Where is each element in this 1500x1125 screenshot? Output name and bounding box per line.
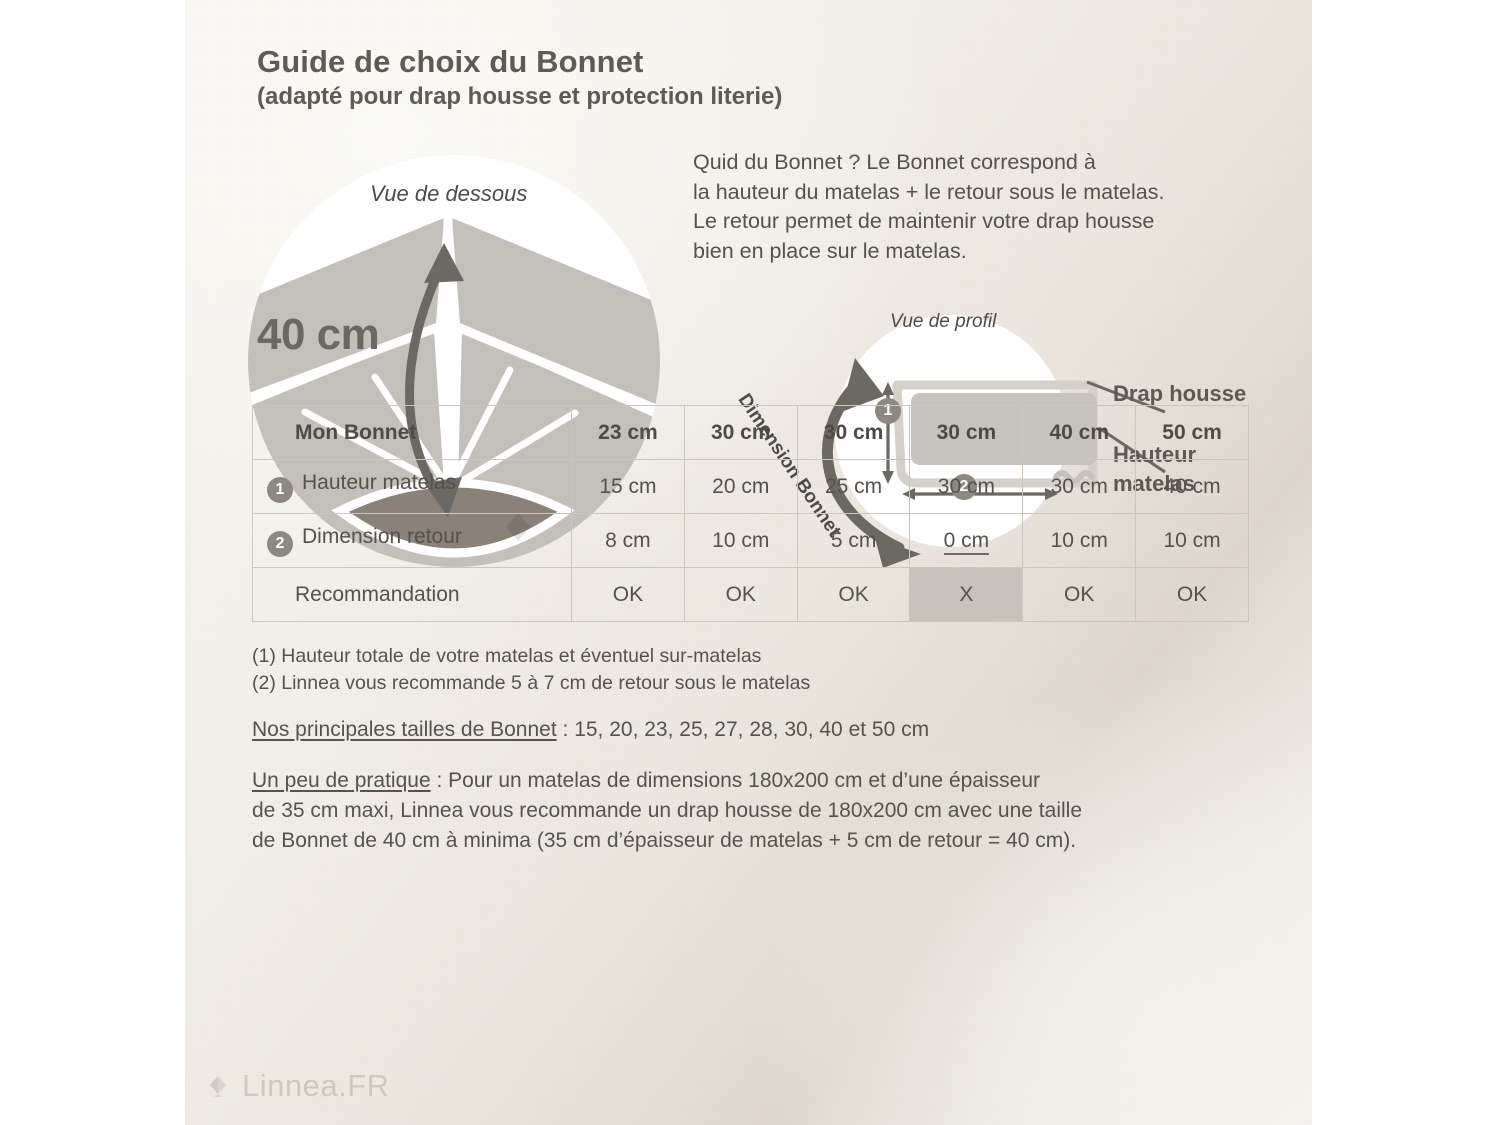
hauteur-col-2: 25 cm — [797, 460, 910, 514]
title-block: Guide de choix du Bonnet (adapté pour dr… — [257, 44, 1017, 112]
reco-col-0: OK — [572, 568, 685, 622]
note-2: (2) Linnea vous recommande 5 à 7 cm de r… — [252, 670, 1252, 697]
intro-line-2: la hauteur du matelas + le retour sous l… — [693, 178, 1283, 208]
practice-line-2: de 35 cm maxi, Linnea vous recommande un… — [252, 796, 1252, 826]
intro-line-1: Quid du Bonnet ? Le Bonnet correspond à — [693, 148, 1283, 178]
intro-paragraph: Quid du Bonnet ? Le Bonnet correspond à … — [693, 148, 1283, 266]
reco-col-3: X — [910, 568, 1023, 622]
note-1: (1) Hauteur totale de votre matelas et é… — [252, 643, 1252, 670]
retour-col-5: 10 cm — [1136, 514, 1249, 568]
practice-line-3: de Bonnet de 40 cm à minima (35 cm d’épa… — [252, 826, 1252, 856]
practice-line-1-text: : Pour un matelas de dimensions 180x200 … — [431, 769, 1040, 792]
hauteur-col-3: 30 cm — [910, 460, 1023, 514]
intro-line-3: Le retour permet de maintenir votre drap… — [693, 207, 1283, 237]
table-label-retour: 2Dimension retour — [253, 514, 572, 568]
table-label-reco: Recommandation — [253, 568, 572, 622]
reco-col-4: OK — [1023, 568, 1136, 622]
table-label-hauteur-text: Hauteur matelas — [302, 471, 456, 494]
practice-label: Un peu de pratique — [252, 769, 431, 792]
logo-text: Linnea.FR — [242, 1068, 390, 1104]
table-header-col-1: 30 cm — [684, 406, 797, 460]
reco-col-5: OK — [1136, 568, 1249, 622]
diagram-left-caption: Vue de dessous — [370, 181, 527, 207]
sizes-label: Nos principales tailles de Bonnet — [252, 718, 557, 741]
retour-col-0: 8 cm — [572, 514, 685, 568]
infographic-page: Vue de dessous 40 cm Guide de choix du B… — [0, 0, 1500, 1125]
table-header-col-0: 23 cm — [572, 406, 685, 460]
notes-block: (1) Hauteur totale de votre matelas et é… — [252, 643, 1252, 856]
reco-col-2: OK — [797, 568, 910, 622]
page-subtitle: (adapté pour drap housse et protection l… — [257, 83, 1017, 112]
retour-col-2: 5 cm — [797, 514, 910, 568]
hauteur-col-4: 30 cm — [1023, 460, 1136, 514]
retour-col-3-value: 0 cm — [944, 529, 990, 555]
sizes-line: Nos principales tailles de Bonnet : 15, … — [252, 716, 1252, 744]
callout-drap-housse: Drap housse — [1113, 381, 1246, 407]
reco-col-1: OK — [684, 568, 797, 622]
table-row-hauteur: 1Hauteur matelas 15 cm 20 cm 25 cm 30 cm… — [253, 460, 1249, 514]
retour-col-1: 10 cm — [684, 514, 797, 568]
row-badge-2: 2 — [267, 531, 293, 557]
practice-line-1: Un peu de pratique : Pour un matelas de … — [252, 766, 1252, 796]
sizes-value: : 15, 20, 23, 25, 27, 28, 30, 40 et 50 c… — [557, 718, 929, 741]
hauteur-col-1: 20 cm — [684, 460, 797, 514]
table-header-col-3: 30 cm — [910, 406, 1023, 460]
diagram-right-caption: Vue de profil — [890, 311, 996, 333]
intro-line-4: bien en place sur le matelas. — [693, 237, 1283, 267]
diamond-icon — [205, 1073, 231, 1099]
practice-block: Un peu de pratique : Pour un matelas de … — [252, 766, 1252, 856]
table-header-col-4: 40 cm — [1023, 406, 1136, 460]
table-row-retour: 2Dimension retour 8 cm 10 cm 5 cm 0 cm 1… — [253, 514, 1249, 568]
hauteur-col-0: 15 cm — [572, 460, 685, 514]
page-title: Guide de choix du Bonnet — [257, 44, 1017, 80]
table-row-header: Mon Bonnet 23 cm 30 cm 30 cm 30 cm 40 cm… — [253, 406, 1249, 460]
table-label-hauteur: 1Hauteur matelas — [253, 460, 572, 514]
table-header-label: Mon Bonnet — [253, 406, 572, 460]
table-label-retour-text: Dimension retour — [302, 525, 462, 548]
table-header-col-2: 30 cm — [797, 406, 910, 460]
retour-col-4: 10 cm — [1023, 514, 1136, 568]
table-row-reco: Recommandation OK OK OK X OK OK — [253, 568, 1249, 622]
infographic-canvas: Vue de dessous 40 cm Guide de choix du B… — [185, 0, 1312, 1125]
bonnet-table: Mon Bonnet 23 cm 30 cm 30 cm 30 cm 40 cm… — [252, 405, 1249, 622]
retour-col-3: 0 cm — [910, 514, 1023, 568]
row-badge-1: 1 — [267, 477, 293, 503]
linnea-logo[interactable]: Linnea.FR — [205, 1068, 390, 1104]
table-header-col-5: 50 cm — [1136, 406, 1249, 460]
diagram-left-measure: 40 cm — [257, 310, 379, 360]
hauteur-col-5: 40 cm — [1136, 460, 1249, 514]
bonnet-table-wrapper: Mon Bonnet 23 cm 30 cm 30 cm 30 cm 40 cm… — [252, 405, 1249, 622]
